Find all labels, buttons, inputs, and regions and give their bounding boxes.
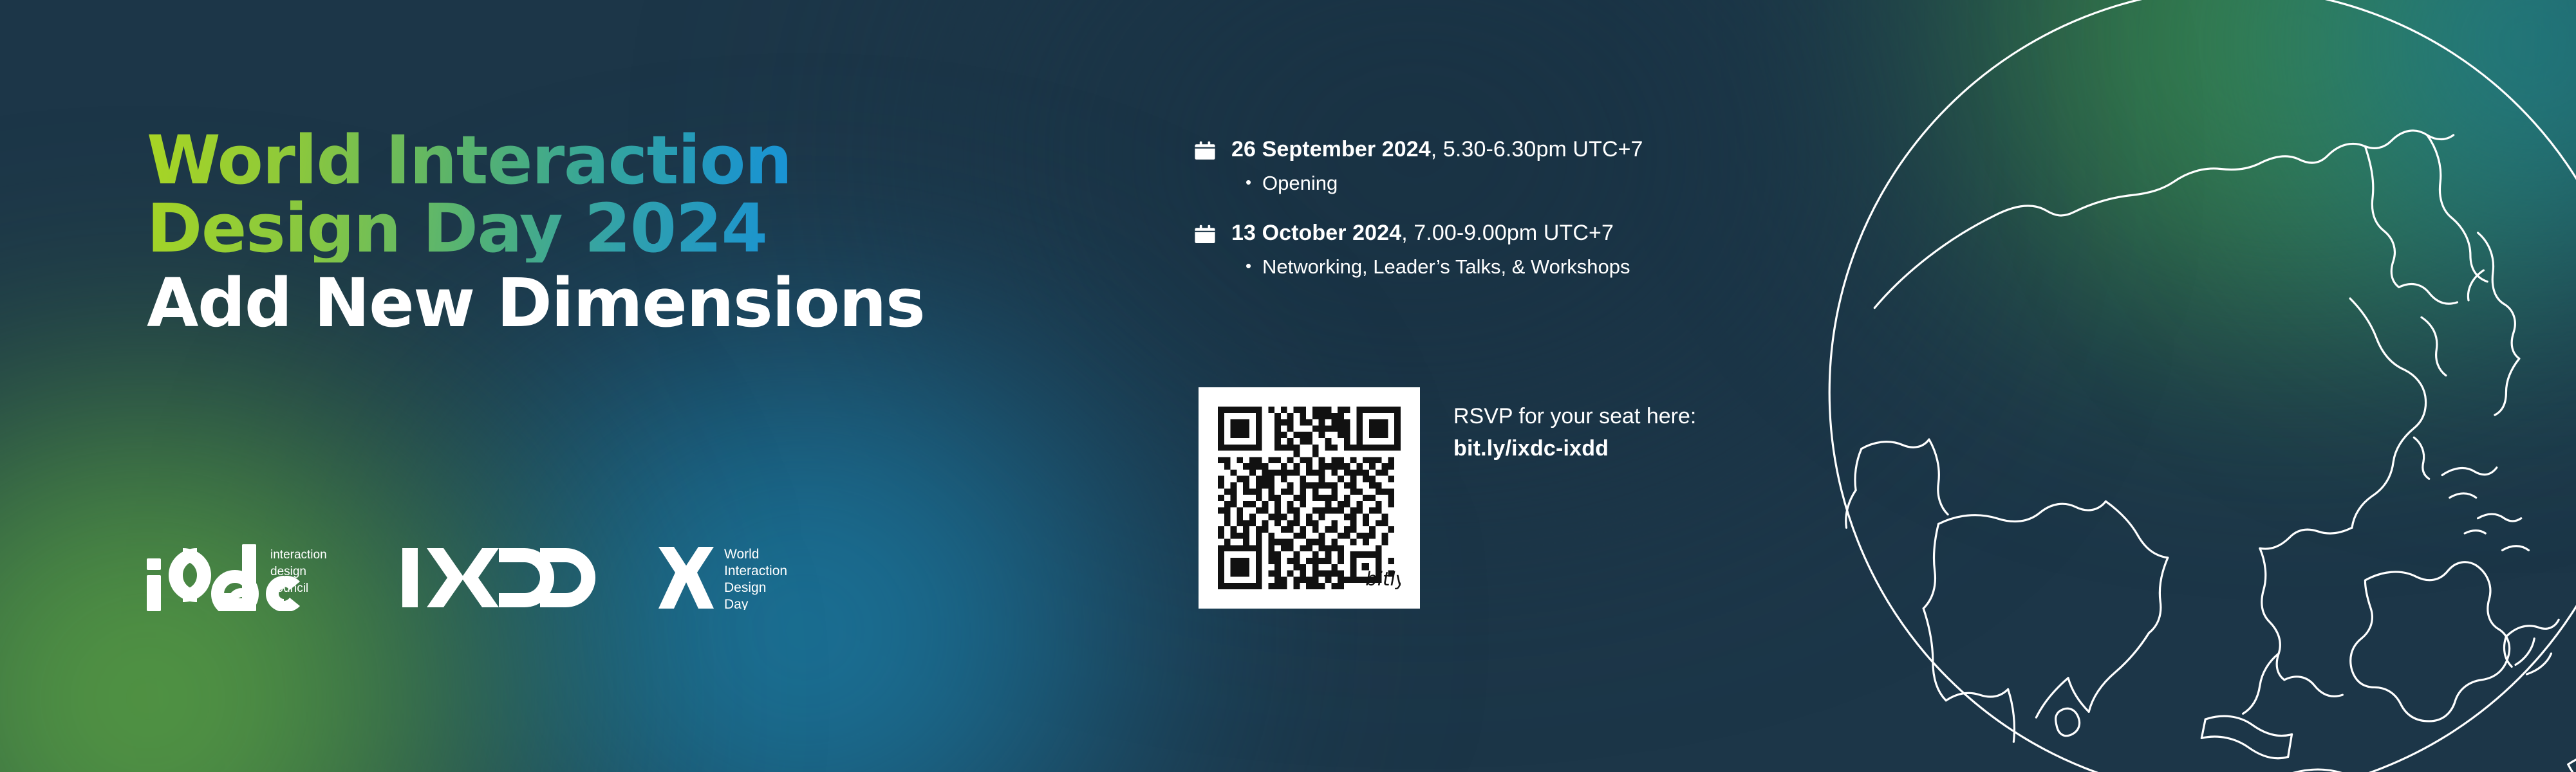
bullet-icon: • xyxy=(1246,171,1262,194)
logo-widd-tagline-1: World xyxy=(724,547,759,562)
headline-line-3: Add New Dimensions xyxy=(147,269,996,337)
event-time: , 7.00-9.00pm UTC+7 xyxy=(1401,221,1614,245)
logo-ixdc-tagline-2: design xyxy=(270,565,306,578)
logo-ixdd xyxy=(402,548,595,607)
logo-widd-tagline-4: Day xyxy=(724,597,749,610)
calendar-icon xyxy=(1194,140,1216,162)
rsvp-url[interactable]: bit.ly/ixdc-ixdd xyxy=(1453,435,1696,463)
qr-bitly-watermark: bitly xyxy=(1365,568,1401,589)
calendar-icon xyxy=(1194,224,1216,246)
rsvp-prompt: RSVP for your seat here: xyxy=(1453,403,1696,431)
rsvp-text: RSVP for your seat here: bit.ly/ixdc-ixd… xyxy=(1453,403,1696,463)
event-date: 26 September 2024 xyxy=(1231,137,1431,161)
logo-ixdc-tagline-1: interaction xyxy=(270,548,327,562)
event-text: 13 October 2024, 7.00-9.00pm UTC+7 • Net… xyxy=(1231,220,1773,279)
event-bullet-row: • Networking, Leader’s Talks, & Workshop… xyxy=(1231,255,1773,279)
headline-block: World Interaction Design Day 2024 Add Ne… xyxy=(147,126,996,337)
headline-line-2: Design Day 2024 xyxy=(147,194,996,262)
event-bullet-label: Networking, Leader’s Talks, & Workshops xyxy=(1262,255,1630,279)
logo-widd-tagline-2: Interaction xyxy=(724,564,787,578)
event-bullet-row: • Opening xyxy=(1231,171,1773,195)
event-date-line: 26 September 2024, 5.30-6.30pm UTC+7 xyxy=(1231,136,1773,163)
event-item: 13 October 2024, 7.00-9.00pm UTC+7 • Net… xyxy=(1194,220,1773,279)
logo-row: interaction design council xyxy=(147,539,805,616)
event-time: , 5.30-6.30pm UTC+7 xyxy=(1431,137,1643,161)
event-item: 26 September 2024, 5.30-6.30pm UTC+7 • O… xyxy=(1194,136,1773,196)
logo-world-interaction-design-day: World Interaction Design Day xyxy=(657,546,805,610)
event-date: 13 October 2024 xyxy=(1231,221,1401,245)
bullet-icon: • xyxy=(1246,255,1262,277)
page-title: World Interaction Design Day 2024 Add Ne… xyxy=(147,126,996,337)
logo-widd-tagline-3: Design xyxy=(724,580,766,595)
event-banner: World Interaction Design Day 2024 Add Ne… xyxy=(0,0,2576,772)
logo-ixdc: interaction design council xyxy=(147,544,343,611)
rsvp-block: bitly RSVP for your seat here: bit.ly/ix… xyxy=(1199,387,1696,609)
event-date-line: 13 October 2024, 7.00-9.00pm UTC+7 xyxy=(1231,220,1773,246)
event-bullet-label: Opening xyxy=(1262,171,1338,195)
qr-code-icon[interactable]: bitly xyxy=(1199,387,1420,609)
event-schedule: 26 September 2024, 5.30-6.30pm UTC+7 • O… xyxy=(1194,136,1773,285)
event-text: 26 September 2024, 5.30-6.30pm UTC+7 • O… xyxy=(1231,136,1773,196)
headline-line-1: World Interaction xyxy=(147,126,996,194)
logo-ixdc-tagline-3: council xyxy=(270,582,308,595)
